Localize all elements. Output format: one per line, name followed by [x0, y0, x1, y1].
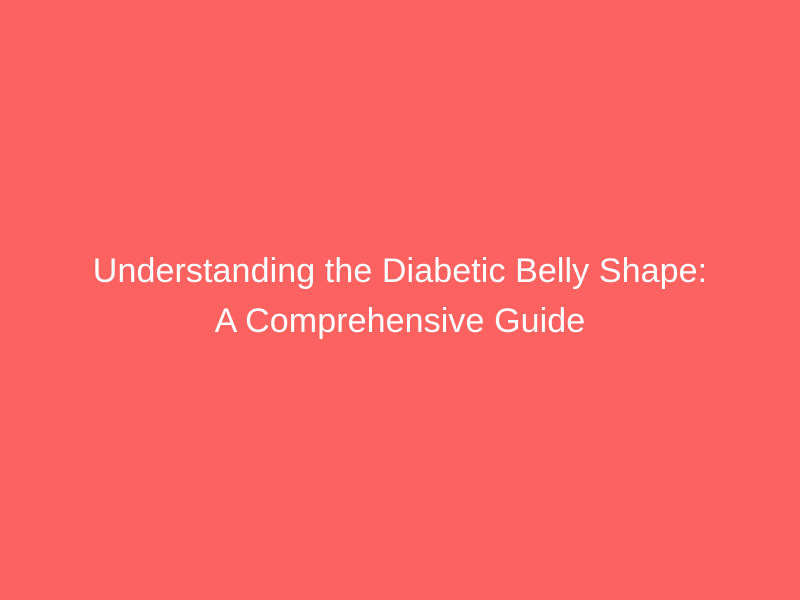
page-title: Understanding the Diabetic Belly Shape: …: [90, 246, 710, 346]
title-block: Understanding the Diabetic Belly Shape: …: [90, 246, 710, 346]
title-card: Understanding the Diabetic Belly Shape: …: [0, 0, 800, 600]
